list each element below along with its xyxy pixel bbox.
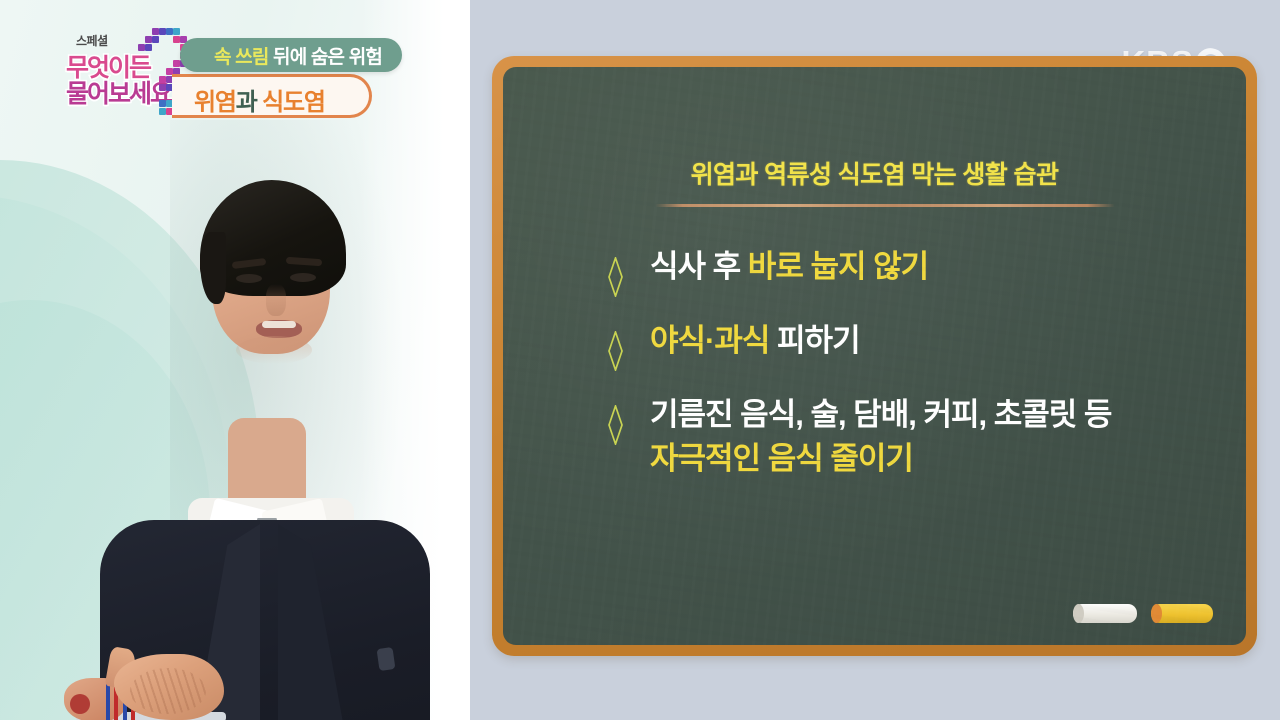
subtitle-part-2: 과 bbox=[236, 89, 257, 116]
headline-banner: 속 쓰림 뒤에 숨은 위험 bbox=[180, 38, 402, 72]
white-chalk-piece bbox=[1073, 604, 1137, 623]
bullet-3-line-2: 자극적인 음식 줄이기 bbox=[650, 437, 1111, 481]
presenter-eye-right bbox=[290, 273, 316, 282]
bullet-1-white-text: 식사 후 bbox=[650, 249, 748, 284]
chalkboard-frame: 위염과 역류성 식도염 막는 생활 습관 식사 후 바로 눕지 않기 bbox=[492, 56, 1257, 656]
chalkboard-bullet-list: 식사 후 바로 눕지 않기 야식·과식 피하기 bbox=[607, 245, 1206, 503]
presenter-sideburn bbox=[200, 232, 226, 304]
list-item: 식사 후 바로 눕지 않기 bbox=[607, 245, 1206, 297]
bullet-2-yellow-text: 야식·과식 bbox=[650, 323, 777, 358]
headline-rest: 뒤에 숨은 위험 bbox=[269, 47, 383, 68]
stomach-anatomy-model bbox=[64, 648, 254, 720]
presenter-chin bbox=[236, 336, 312, 364]
subtitle-banner: 위염과 식도염 bbox=[172, 74, 372, 118]
chalkboard-title-underline bbox=[655, 204, 1115, 207]
presenter-eye-left bbox=[236, 274, 262, 283]
yellow-chalk-piece bbox=[1151, 604, 1213, 623]
list-item: 기름진 음식, 술, 담배, 커피, 초콜릿 등 자극적인 음식 줄이기 bbox=[607, 393, 1206, 481]
diamond-bullet-icon bbox=[607, 331, 624, 371]
presenter bbox=[100, 168, 430, 720]
chalkboard-title: 위염과 역류성 식도염 막는 생활 습관 bbox=[503, 155, 1246, 191]
bullet-3-line-1: 기름진 음식, 술, 담배, 커피, 초콜릿 등 bbox=[650, 393, 1111, 437]
diamond-bullet-icon bbox=[607, 405, 624, 445]
presenter-nose bbox=[266, 284, 286, 316]
subtitle-part-3: 식도염 bbox=[257, 89, 325, 116]
diamond-bullet-icon bbox=[607, 257, 624, 297]
lapel-microphone-icon bbox=[377, 647, 396, 671]
chalkboard: 위염과 역류성 식도염 막는 생활 습관 식사 후 바로 눕지 않기 bbox=[503, 67, 1246, 645]
program-logo-special-label: 스페셜 bbox=[76, 32, 108, 49]
presenter-teeth bbox=[262, 321, 296, 328]
bullet-1-yellow-text: 바로 눕지 않기 bbox=[748, 249, 928, 284]
broadcast-screen: 스페셜 무엇이든 물어보세요 위염과 식도염 속 쓰림 뒤에 숨은 위험 KBS… bbox=[0, 0, 1280, 720]
subtitle-part-1: 위염 bbox=[194, 89, 236, 116]
headline-highlight: 속 쓰림 bbox=[214, 47, 269, 68]
bullet-2-white-text: 피하기 bbox=[777, 323, 860, 358]
list-item: 야식·과식 피하기 bbox=[607, 319, 1206, 371]
